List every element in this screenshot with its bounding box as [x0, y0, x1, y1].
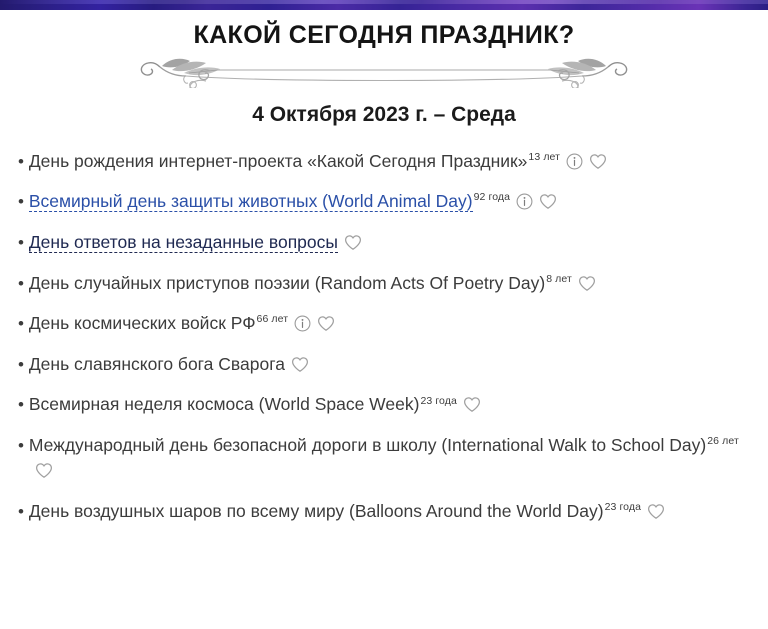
heart-outline-icon[interactable] — [647, 503, 665, 520]
info-circle-icon[interactable] — [294, 315, 311, 332]
bullet-dot-icon: • — [18, 152, 24, 171]
holiday-title-link[interactable]: Всемирный день защиты животных (World An… — [29, 191, 473, 212]
floral-divider-icon — [126, 54, 642, 88]
holiday-title: День воздушных шаров по всему миру (Ball… — [29, 501, 604, 521]
heart-outline-icon[interactable] — [578, 275, 596, 292]
holiday-age-badge: 23 года — [420, 395, 456, 407]
current-date: 4 Октября 2023 г. – Среда — [0, 102, 768, 127]
heart-outline-icon[interactable] — [539, 193, 557, 210]
info-circle-icon[interactable] — [566, 153, 583, 170]
heart-outline-icon[interactable] — [589, 153, 607, 170]
heart-outline-icon[interactable] — [344, 234, 362, 251]
holiday-age-badge: 13 лет — [528, 151, 560, 163]
heart-outline-icon[interactable] — [291, 356, 309, 373]
holiday-age-badge: 23 года — [605, 501, 641, 513]
holiday-title: День случайных приступов поэзии (Random … — [29, 273, 545, 293]
page-header: КАКОЙ СЕГОДНЯ ПРАЗДНИК? — [0, 10, 768, 127]
holiday-list-item: • День ответов на незаданные вопросы — [18, 230, 752, 255]
holiday-list-item: • День космических войск РФ66 лет — [18, 311, 752, 336]
holiday-list: • День рождения интернет-проекта «Какой … — [0, 127, 768, 524]
holiday-list-item: • День воздушных шаров по всему миру (Ba… — [18, 499, 752, 524]
bullet-dot-icon: • — [18, 314, 24, 333]
holiday-age-badge: 8 лет — [546, 273, 572, 285]
bullet-dot-icon: • — [18, 436, 24, 455]
holiday-list-item: • День рождения интернет-проекта «Какой … — [18, 149, 752, 174]
holiday-list-item: • День случайных приступов поэзии (Rando… — [18, 271, 752, 296]
bullet-dot-icon: • — [18, 355, 24, 374]
holiday-list-item: • Всемирная неделя космоса (World Space … — [18, 392, 752, 417]
bullet-dot-icon: • — [18, 274, 24, 293]
bullet-dot-icon: • — [18, 233, 24, 252]
holiday-age-badge: 66 лет — [257, 313, 289, 325]
bullet-dot-icon: • — [18, 502, 24, 521]
info-circle-icon[interactable] — [516, 193, 533, 210]
holiday-title: День космических войск РФ — [29, 313, 256, 333]
holiday-age-badge: 26 лет — [707, 435, 739, 447]
holiday-list-item: • День славянского бога Сварога — [18, 352, 752, 377]
decorative-top-bar — [0, 0, 768, 10]
holiday-age-badge: 92 года — [474, 191, 510, 203]
heart-outline-icon[interactable] — [317, 315, 335, 332]
page-title: КАКОЙ СЕГОДНЯ ПРАЗДНИК? — [0, 22, 768, 50]
bullet-dot-icon: • — [18, 192, 24, 211]
holiday-title: День рождения интернет-проекта «Какой Се… — [29, 151, 528, 171]
holiday-title-link[interactable]: День ответов на незаданные вопросы — [29, 232, 338, 253]
heart-outline-icon[interactable] — [463, 396, 481, 413]
holiday-list-item: • Международный день безопасной дороги в… — [18, 433, 752, 483]
holiday-title: Международный день безопасной дороги в ш… — [29, 435, 706, 455]
bullet-dot-icon: • — [18, 395, 24, 414]
heart-outline-icon[interactable] — [35, 462, 53, 479]
holiday-title: Всемирная неделя космоса (World Space We… — [29, 394, 420, 414]
holiday-title: День славянского бога Сварога — [29, 354, 285, 374]
top-bar-sheen — [0, 0, 768, 4]
holiday-list-item: • Всемирный день защиты животных (World … — [18, 189, 752, 214]
